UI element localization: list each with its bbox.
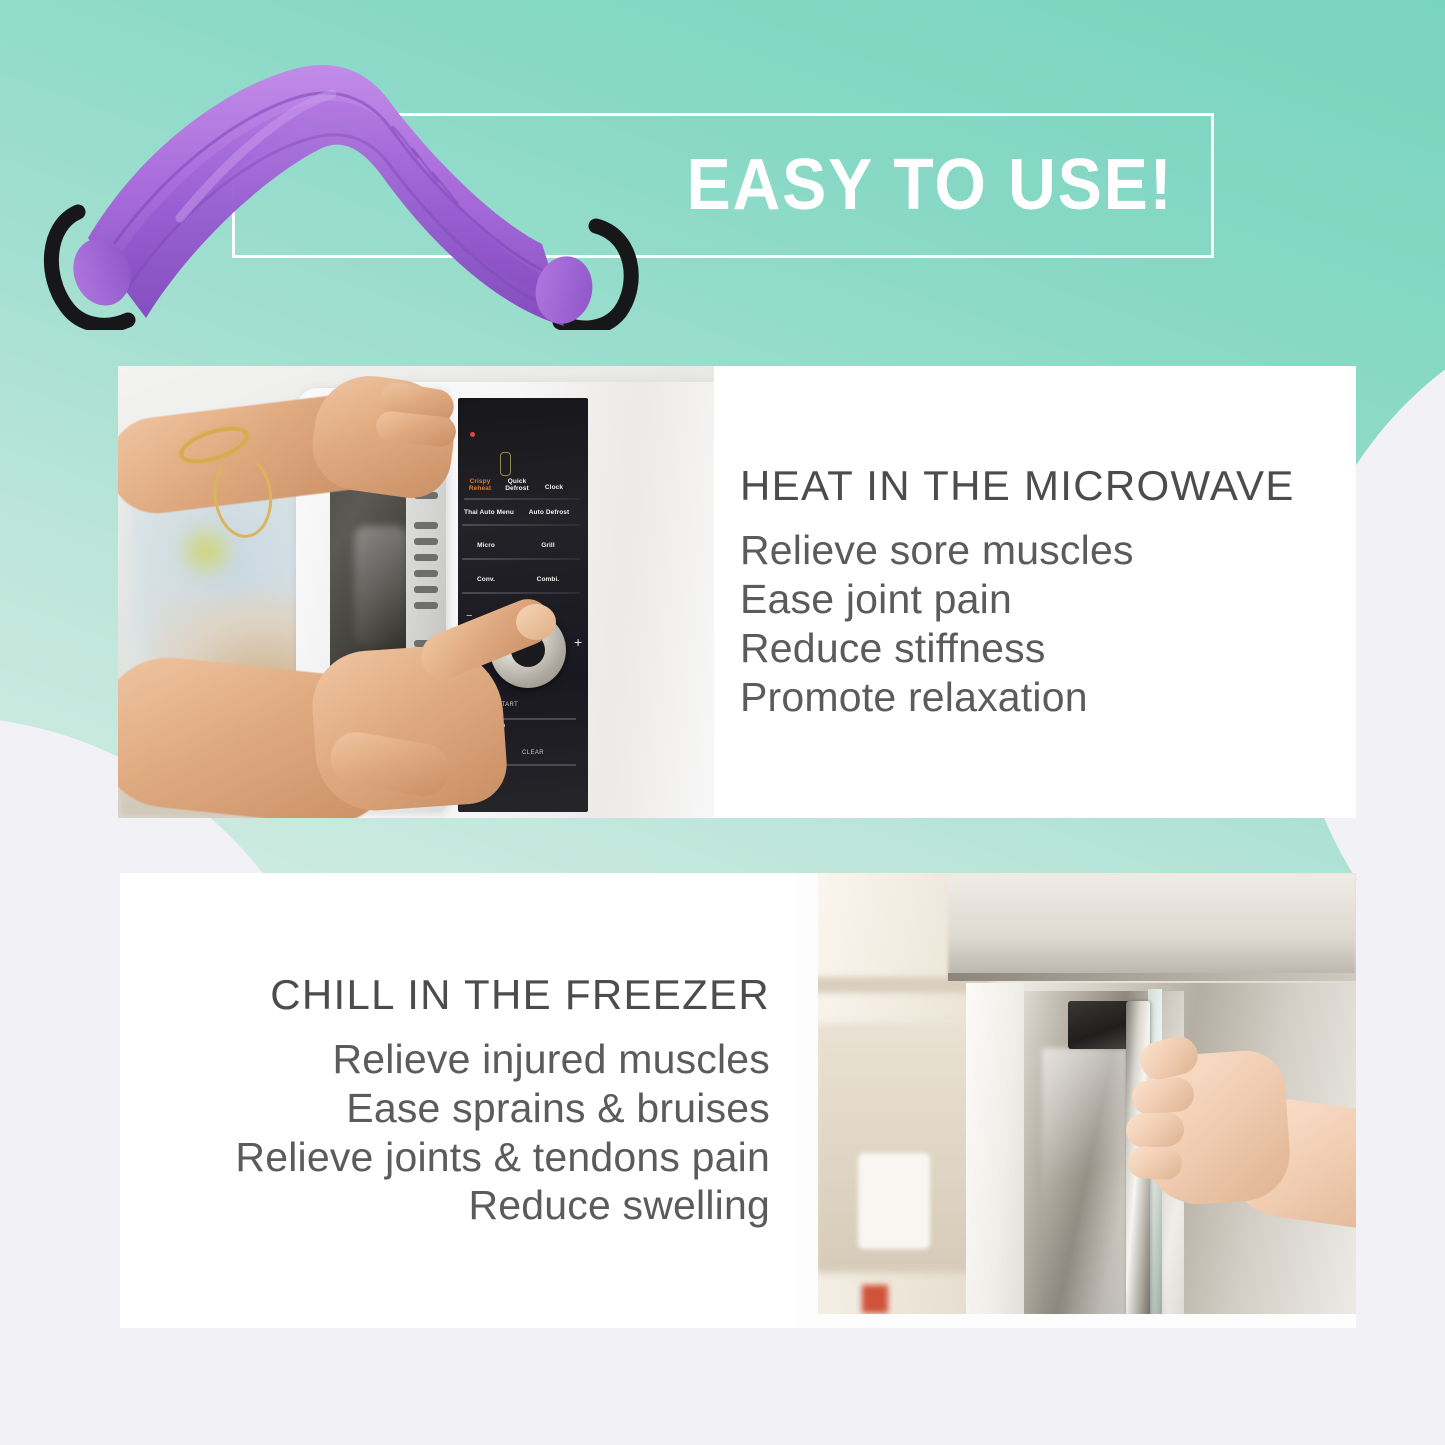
button-clock[interactable]: Clock [538, 484, 570, 491]
benefit-line: Relieve injured muscles [332, 1035, 770, 1084]
hand-finger-3 [1125, 1112, 1184, 1148]
hand-opening-freezer-door-photo [796, 873, 1356, 1328]
handle-bracket [1068, 1001, 1134, 1049]
benefit-line: Reduce stiffness [740, 624, 1356, 673]
hand-finger-4 [1127, 1146, 1183, 1181]
benefit-line: Ease joint pain [740, 575, 1356, 624]
benefit-line: Relieve joints & tendons pain [235, 1133, 770, 1182]
dial-plus-label: + [574, 634, 582, 650]
section-copy-chill: CHILL IN THE FREEZER Relieve injured mus… [120, 873, 796, 1328]
section-card-heat: Crispy Reheat Quick Defrost Clock Thai A… [118, 366, 1356, 818]
product-image-neck-wrap [40, 30, 680, 330]
button-crispy-reheat[interactable]: Crispy Reheat [464, 478, 496, 493]
door-icon [500, 452, 511, 476]
button-thai-auto-menu[interactable]: Thai Auto Menu [460, 509, 518, 516]
button-quick-defrost[interactable]: Quick Defrost [500, 478, 534, 493]
infographic-canvas: EASY TO USE! [0, 0, 1445, 1445]
button-auto-defrost[interactable]: Auto Defrost [520, 509, 578, 516]
label-clear: CLEAR [522, 750, 544, 756]
hero-title: EASY TO USE! [700, 135, 1160, 235]
section-card-chill: CHILL IN THE FREEZER Relieve injured mus… [120, 873, 1356, 1328]
benefit-line: Relieve sore muscles [740, 526, 1356, 575]
hand-index-fingertip [516, 604, 556, 640]
section-title-chill: CHILL IN THE FREEZER [270, 971, 770, 1019]
benefit-line: Reduce swelling [468, 1181, 770, 1230]
button-grill[interactable]: Grill [528, 542, 568, 549]
button-micro[interactable]: Micro [466, 542, 506, 549]
button-combi[interactable]: Combi. [528, 576, 568, 583]
section-title-heat: HEAT IN THE MICROWAVE [740, 462, 1356, 510]
indicator-light [470, 432, 475, 437]
button-conv[interactable]: Conv. [466, 576, 506, 583]
benefit-line: Promote relaxation [740, 673, 1356, 722]
section-copy-heat: HEAT IN THE MICROWAVE Relieve sore muscl… [714, 366, 1356, 818]
hand-opening-microwave-photo: Crispy Reheat Quick Defrost Clock Thai A… [118, 366, 714, 818]
benefit-line: Ease sprains & bruises [346, 1084, 770, 1133]
